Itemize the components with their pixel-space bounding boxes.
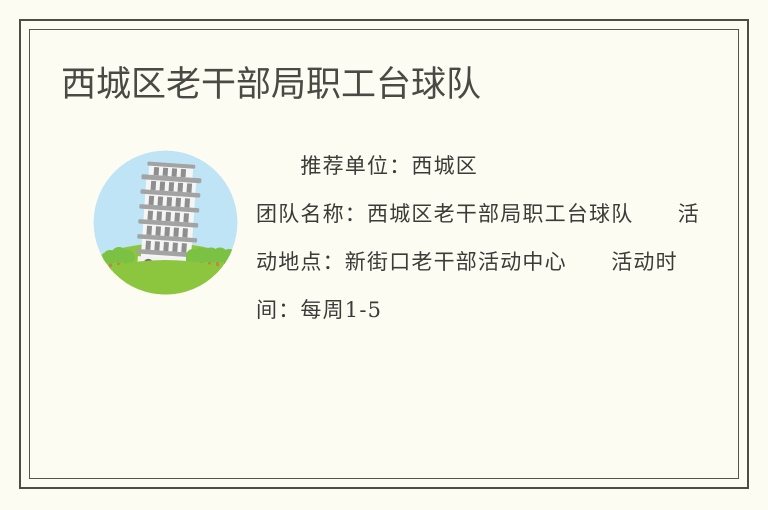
team-details-text: 推荐单位：西城区 团队名称：西城区老干部局职工台球队 活动地点：新街口老干部活动… <box>256 142 706 334</box>
article-card: 西城区老干部局职工台球队 <box>30 30 738 478</box>
leaning-tower-of-pisa-icon <box>93 150 238 295</box>
page-title: 西城区老干部局职工台球队 <box>61 62 481 108</box>
